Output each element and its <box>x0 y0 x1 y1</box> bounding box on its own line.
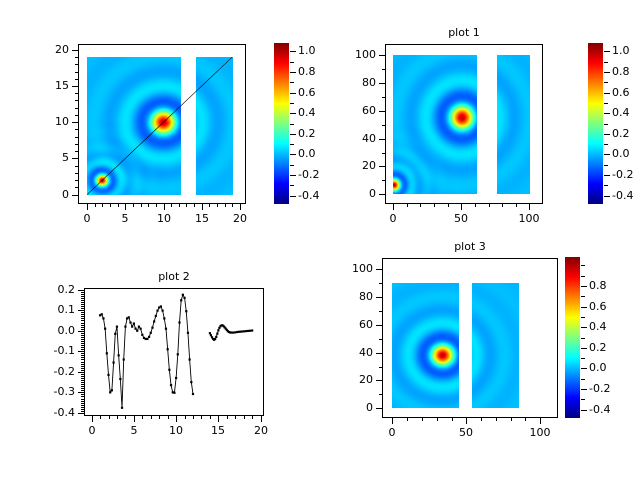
panel-bottom-right-colorbar-tick-minor <box>581 286 585 287</box>
panel-bottom-right-xticklabel: 100 <box>520 426 560 439</box>
panel-bottom-right-yticklabel: 40 <box>324 346 373 359</box>
panel-bottom-right-yticklabel: 100 <box>324 262 373 275</box>
panel-bottom-right-xtick-minor <box>525 418 526 421</box>
panel-bottom-right-yticklabel: 60 <box>324 318 373 331</box>
panel-bottom-right-ytick-minor <box>379 339 382 340</box>
panel-bottom-right-xtick-minor <box>466 418 467 421</box>
panel-bottom-right-ytick-minor <box>379 367 382 368</box>
panel-bottom-right-yticklabel: 20 <box>324 373 373 386</box>
panel-bottom-right-colorbar-tick-minor <box>581 338 585 339</box>
panel-bottom-right-ytick-minor <box>379 311 382 312</box>
panel-bottom-right-xtick-minor <box>392 418 393 421</box>
panel-bottom-right-colorbar-label: 0.6 <box>589 300 631 313</box>
panel-bottom-right-colorbar-tick-minor <box>581 327 585 328</box>
panel-bottom-right-colorbar-tick-minor <box>581 276 585 277</box>
panel-bottom-right-colorbar-tick-minor <box>581 368 585 369</box>
panel-bottom-right-colorbar-label: 0.4 <box>589 320 631 333</box>
panel-bottom-right-colorbar-tick-minor <box>581 399 585 400</box>
panel-bottom-right-colorbar-tick-minor <box>581 317 585 318</box>
panel-bottom-right-colorbar-label: 0.0 <box>589 361 631 374</box>
panel-bottom-right-xtick-minor <box>481 418 482 421</box>
panel-bottom-right-xtick-minor <box>540 418 541 421</box>
panel-bottom-right-xtick-minor <box>452 418 453 421</box>
panel-bottom-right-ytick-minor <box>379 269 382 270</box>
panel-bottom-right-colorbar-tick-minor <box>581 379 585 380</box>
panel-bottom-right-colorbar-tick-minor <box>581 358 585 359</box>
panel-bottom-right-xticklabel: 50 <box>446 426 486 439</box>
figure-canvas: 0510152005101520-0.4-0.20.00.20.40.60.81… <box>0 0 640 480</box>
panel-bottom-right-ytick-minor <box>379 408 382 409</box>
panel-bottom-right-ytick-minor <box>379 394 382 395</box>
panel-bottom-right-colorbar-tick-minor <box>581 410 585 411</box>
panel-bottom-right-colorbar-tick-minor <box>581 296 585 297</box>
panel-bottom-right-ytick-minor <box>379 325 382 326</box>
panel-bottom-right-ytick-minor <box>379 353 382 354</box>
panel-bottom-right-xtick-minor <box>496 418 497 421</box>
panel-bottom-right-ytick-minor <box>379 283 382 284</box>
panel-bottom-right-xtick-minor <box>422 418 423 421</box>
panel-bottom-right-yticklabel: 80 <box>324 290 373 303</box>
panel-bottom-right-colorbar-tick-minor <box>581 265 585 266</box>
panel-bottom-right: plot 3050100020406080100-0.4-0.20.00.20.… <box>0 0 640 480</box>
panel-bottom-right-xtick-minor <box>511 418 512 421</box>
panel-bottom-right-colorbar-tick-minor <box>581 389 585 390</box>
panel-bottom-right-colorbar-label: -0.4 <box>589 403 631 416</box>
panel-bottom-right-colorbar-label: -0.2 <box>589 382 631 395</box>
panel-bottom-right-colorbar-tick-minor <box>581 307 585 308</box>
panel-bottom-right-colorbar-gradient <box>565 257 580 418</box>
panel-bottom-right-yticklabel: 0 <box>324 401 373 414</box>
panel-bottom-right-colorbar-label: 0.8 <box>589 279 631 292</box>
panel-bottom-right-xtick-minor <box>407 418 408 421</box>
panel-bottom-right-title: plot 3 <box>382 240 558 253</box>
panel-bottom-right-image-1 <box>472 283 519 408</box>
panel-bottom-right-colorbar <box>565 257 580 418</box>
panel-bottom-right-colorbar-label: 0.2 <box>589 341 631 354</box>
panel-bottom-right-xticklabel: 0 <box>372 426 412 439</box>
panel-bottom-right-ytick-minor <box>379 297 382 298</box>
panel-bottom-right-image-0 <box>392 283 459 408</box>
panel-bottom-right-xtick-minor <box>437 418 438 421</box>
panel-bottom-right-colorbar-tick-minor <box>581 348 585 349</box>
panel-bottom-right-ytick-minor <box>379 380 382 381</box>
